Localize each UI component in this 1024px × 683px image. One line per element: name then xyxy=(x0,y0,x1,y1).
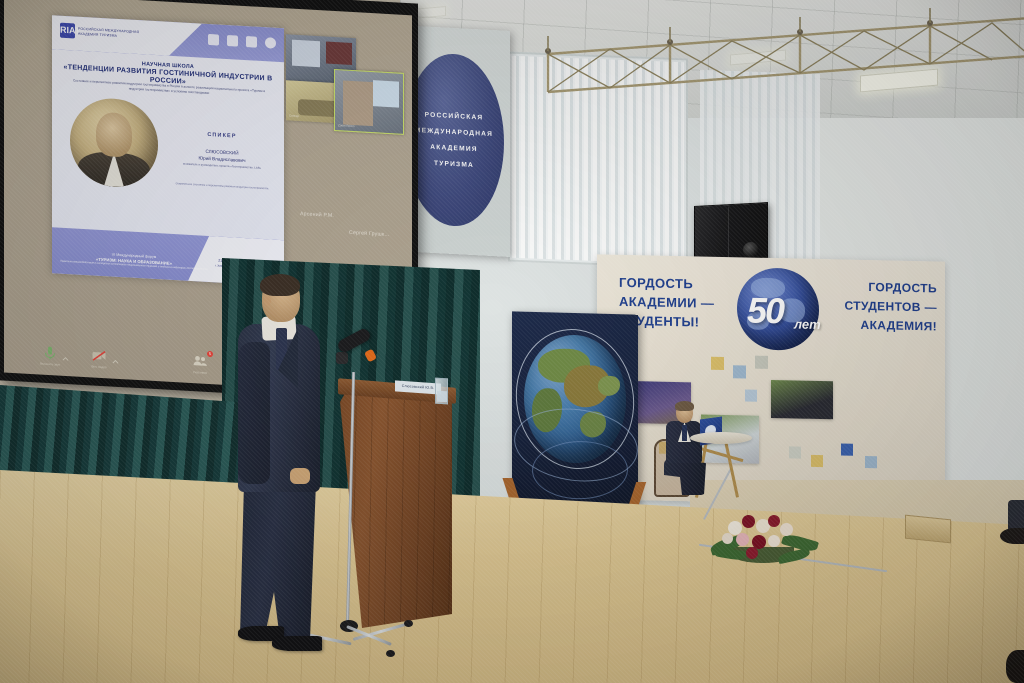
banner-right-line-1: ГОРДОСТЬ xyxy=(844,278,937,299)
zoom-thumbnail-active[interactable]: Zoom Room xyxy=(334,69,404,135)
speaker-shoe xyxy=(272,636,322,651)
oval-line-1: РОССИЙСКАЯ xyxy=(425,111,484,121)
presidium-table xyxy=(690,432,752,444)
banner-right-line-3: АКАДЕМИЯ! xyxy=(844,316,937,337)
offscreen-person-shoe xyxy=(1006,650,1024,683)
banner-photo xyxy=(771,380,833,419)
lighting-truss xyxy=(500,0,1024,116)
banner-decor-square xyxy=(811,455,823,467)
banner-decor-square xyxy=(711,357,724,370)
banner-right-line-2: СТУДЕНТОВ — xyxy=(844,297,937,318)
banner-decor-square xyxy=(865,456,877,468)
oval-line-2: МЕЖДУНАРОДНАЯ xyxy=(415,126,493,137)
floral-arrangement xyxy=(710,505,820,567)
speaker-note: Современное состояние и перспективы разв… xyxy=(170,182,274,191)
speaker-label: СПИКЕР xyxy=(172,130,272,142)
zoom-toolbar-label: Участники xyxy=(186,370,214,376)
zoom-thumb-label: Zoom Room xyxy=(338,123,355,128)
oval-badge: РОССИЙСКАЯ МЕЖДУНАРОДНАЯ АКАДЕМИЯ ТУРИЗМ… xyxy=(404,51,504,228)
chevron-up-icon[interactable] xyxy=(62,350,68,356)
participants-badge: 5 xyxy=(207,351,213,357)
oval-line-4: ТУРИЗМА xyxy=(434,159,474,168)
offscreen-person-shoe xyxy=(1000,528,1024,544)
zoom-video-gallery: Спикер Zoom Room xyxy=(286,34,406,153)
wooden-step xyxy=(905,515,951,544)
speaker-portrait xyxy=(70,96,158,189)
logo-mark: RIAT xyxy=(60,23,75,39)
microphone-icon[interactable]: Включить звук xyxy=(42,345,58,362)
video-off-icon[interactable]: Вкл. видео xyxy=(91,347,107,364)
zoom-toolbar-label: Вкл. видео xyxy=(85,364,113,370)
zoom-participant-name: Арсений Р.М. xyxy=(300,211,334,219)
banner-decor-square xyxy=(755,356,768,369)
banner-left-line-2: АКАДЕМИИ — xyxy=(619,292,714,313)
oval-line-3: АКАДЕМИЯ xyxy=(430,143,477,152)
partner-logo-icon xyxy=(208,34,219,46)
banner-decor-square xyxy=(733,365,746,378)
anniversary-number: 50 xyxy=(747,289,783,332)
banner-decor-square xyxy=(841,443,853,455)
chevron-up-icon[interactable] xyxy=(112,353,118,359)
standing-speaker xyxy=(232,276,342,640)
partner-logo-icon xyxy=(265,37,276,49)
partner-logo-icon xyxy=(246,36,257,48)
partner-logo-icon xyxy=(227,35,238,47)
zoom-participant-name: Сергей Грушк… xyxy=(349,230,390,238)
banner-left-line-1: ГОРДОСТЬ xyxy=(619,273,714,294)
anniversary-word: лет xyxy=(794,316,821,332)
zoom-thumb-label: Спикер xyxy=(289,113,299,118)
banner-decor-square xyxy=(789,446,801,458)
banner-decor-square xyxy=(745,389,757,401)
zoom-toolbar-label: Включить звук xyxy=(36,361,64,367)
earth-globe-poster xyxy=(512,311,638,508)
anniversary-banner: ГОРДОСТЬ АКАДЕМИИ — СТУДЕНТЫ! ГОРДОСТЬ С… xyxy=(597,254,945,506)
microphone-stand-foot xyxy=(386,650,395,657)
conference-hall-photo: РОССИЙСКАЯ МЕЖДУНАРОДНАЯ АКАДЕМИЯ ТУРИЗМ… xyxy=(0,0,1024,683)
participants-icon[interactable]: 5 Участники xyxy=(192,353,208,370)
microphone-stand-foot xyxy=(404,620,413,627)
presentation-slide: RIAT РОССИЙСКАЯ МЕЖДУНАРОДНАЯ АКАДЕМИЯ Т… xyxy=(52,15,284,286)
water-glass xyxy=(435,378,448,405)
logo-org-name: РОССИЙСКАЯ МЕЖДУНАРОДНАЯ АКАДЕМИЯ ТУРИЗМ… xyxy=(78,27,148,39)
speaker-surname: СЛЮСОВСКИЙ xyxy=(205,149,238,156)
orbit-ring xyxy=(531,440,630,501)
banner-right-slogan: ГОРДОСТЬ СТУДЕНТОВ — АКАДЕМИЯ! xyxy=(844,278,937,337)
